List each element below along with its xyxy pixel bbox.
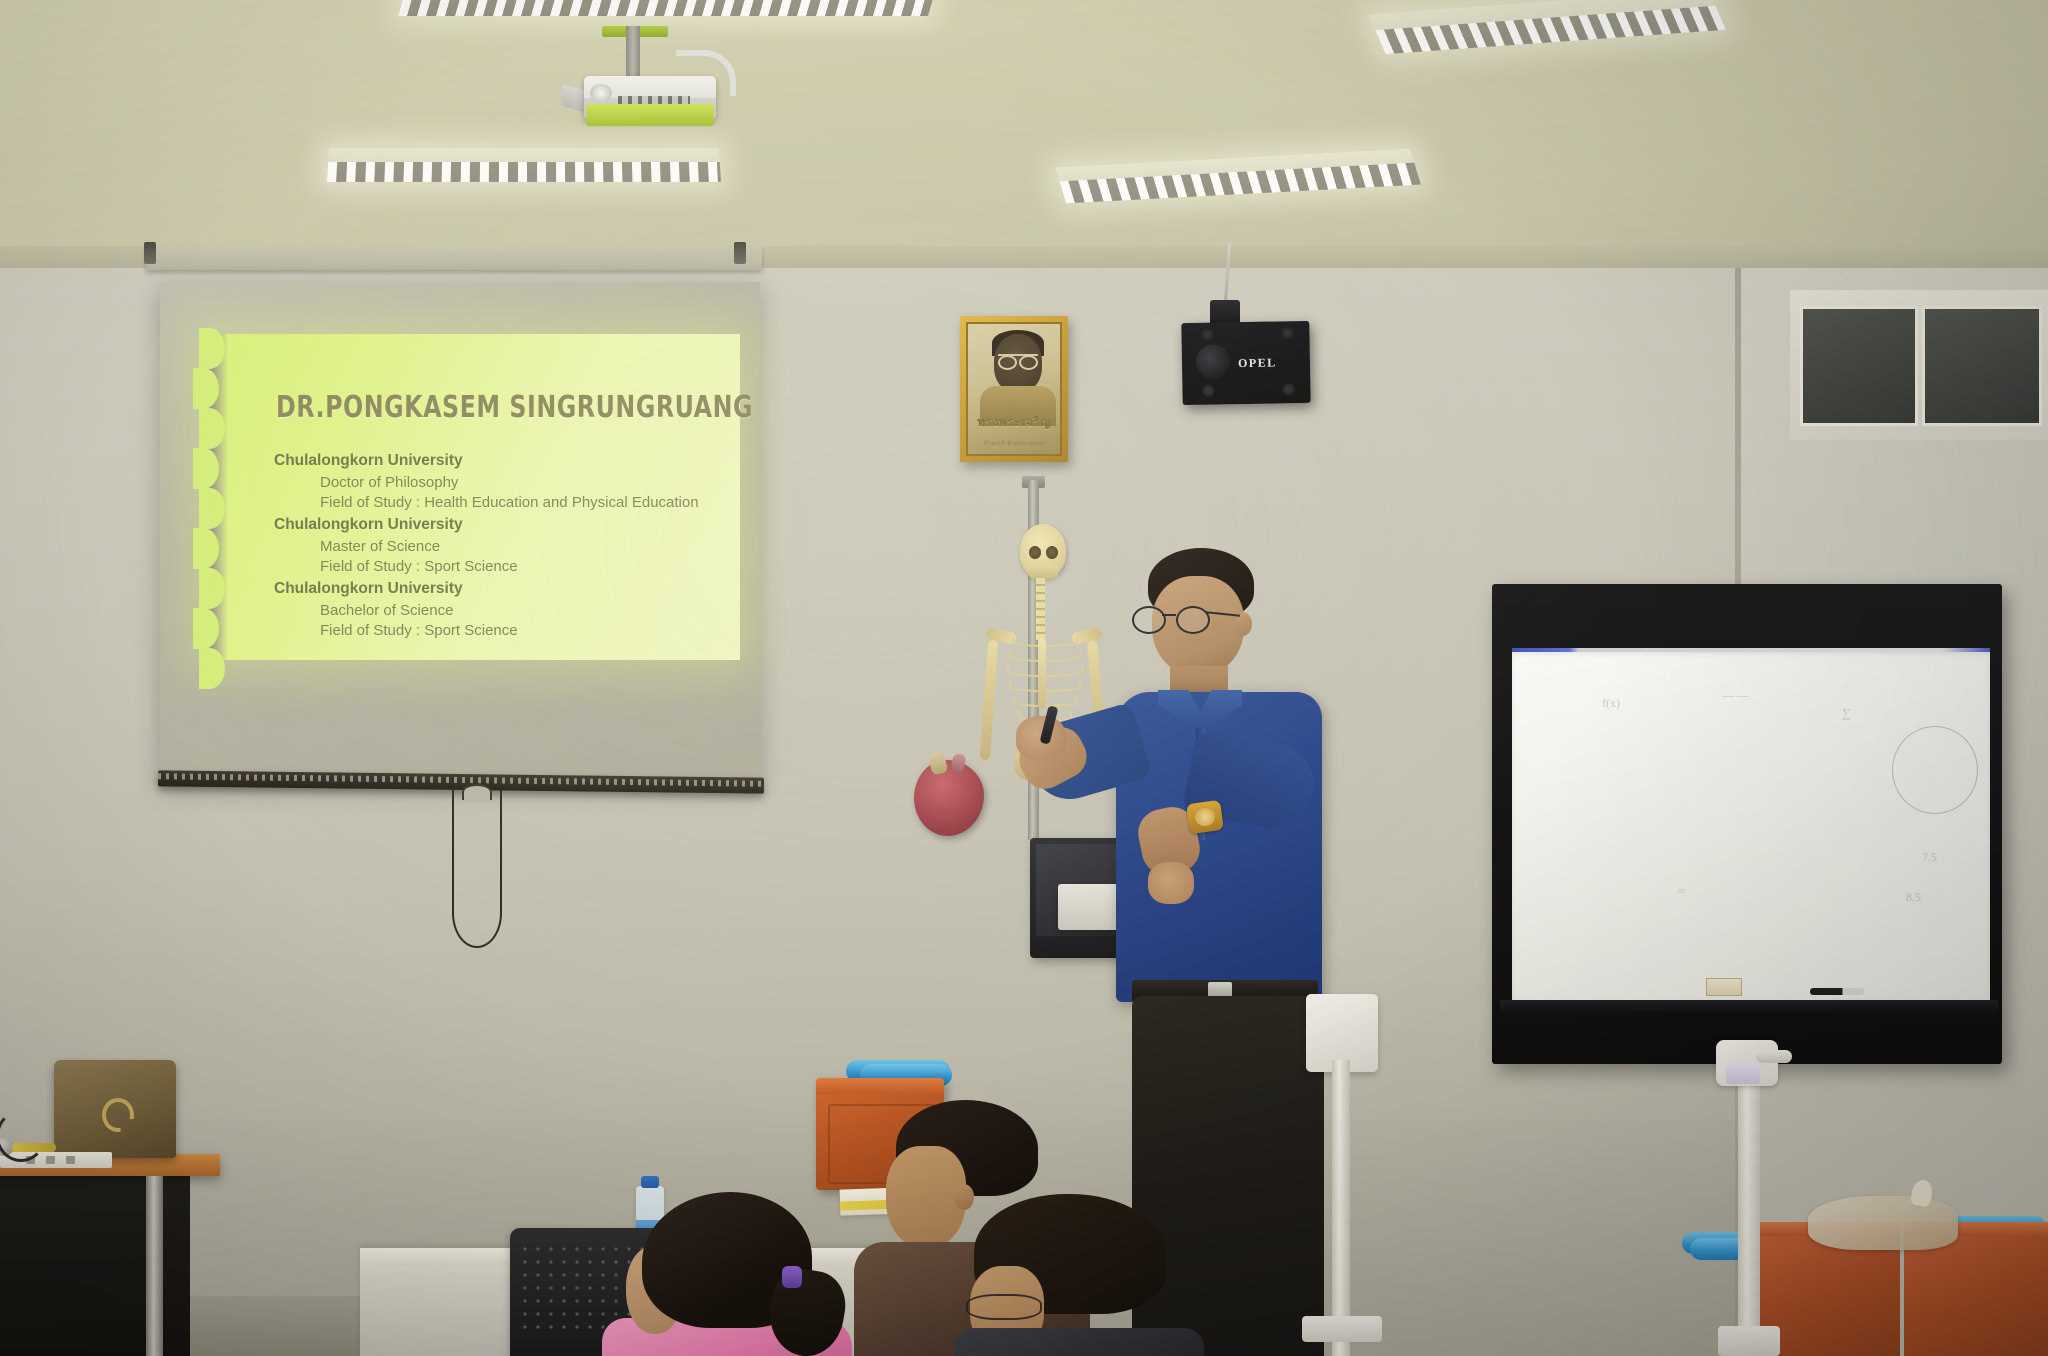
- window-pane: [1800, 306, 1918, 426]
- skeleton-arm: [980, 640, 998, 760]
- window-assembly: [1790, 290, 2048, 440]
- slide-title: DR.PONGKASEM SINGRUNGRUANG: [276, 390, 753, 425]
- slide-wave-lobe: [193, 448, 219, 489]
- wall-speaker: OPEL: [1181, 321, 1310, 405]
- slide-university-2: Chulalongkorn University: [274, 516, 463, 534]
- ceiling-projector: [566, 26, 728, 138]
- slide-wave-lobe: [199, 408, 225, 449]
- glasses-temple: [1206, 611, 1240, 617]
- slide-field-3: Field of Study : Sport Science: [320, 622, 518, 639]
- wristwatch: [1186, 800, 1224, 834]
- projector-lit-underside: [586, 104, 714, 126]
- portrait-image: ทรงพระเจริญ ด้วยเกล้าด้วยกระหม่อม: [966, 322, 1062, 456]
- heart-vessel: [950, 753, 966, 773]
- height-weight-scale: [1720, 1040, 1776, 1356]
- slide-university-1: Chulalongkorn University: [274, 452, 463, 470]
- slide-wave-lobe: [193, 368, 219, 409]
- slide-wave-decoration: [202, 334, 228, 660]
- slide-university-3: Chulalongkorn University: [274, 580, 463, 598]
- slide-wave-lobe: [199, 328, 225, 369]
- slide-wave-lobe: [193, 528, 219, 569]
- projector-lens: [590, 84, 612, 102]
- scale-display: [1726, 1062, 1760, 1084]
- screen-pull-cord[interactable]: [452, 790, 502, 948]
- light-louver: [327, 162, 721, 182]
- projector-mount-pole: [626, 26, 640, 80]
- glasses-lens: [1176, 606, 1210, 634]
- light-louver: [398, 0, 933, 16]
- desk-leg: [146, 1176, 163, 1356]
- window-pane: [1922, 306, 2042, 426]
- speaker-bolt: [1282, 383, 1294, 395]
- speaker-driver: [1196, 344, 1231, 379]
- audience-glasses-icon: [966, 1294, 1042, 1320]
- screen-hook: [144, 242, 156, 264]
- whiteboard-pen-tray: [1500, 1000, 1998, 1014]
- slide-wave-lobe: [199, 488, 225, 529]
- bottle-cap: [641, 1176, 659, 1188]
- portrait-glasses-icon: [998, 354, 1038, 367]
- cart-base: [1302, 1316, 1382, 1342]
- slide-field-1: Field of Study : Health Education and Ph…: [320, 494, 699, 511]
- slide-wave-lobe: [193, 608, 219, 649]
- presenter-right-hand: [1148, 862, 1194, 904]
- whiteboard-surface[interactable]: f(x) — — ∑ 7.5 8.5 ≈: [1512, 652, 1990, 1000]
- ceiling-light-fixture: [327, 148, 721, 182]
- whiteboard-marker[interactable]: [1810, 988, 1864, 995]
- cart-pole: [1332, 1060, 1350, 1356]
- glasses-lens: [1132, 606, 1166, 634]
- scale-base: [1718, 1326, 1780, 1356]
- scale-column: [1738, 1076, 1760, 1356]
- screen-hook: [734, 242, 746, 264]
- scale-height-rod: [1756, 1050, 1792, 1063]
- equipment-cart: [1300, 1060, 1384, 1356]
- classroom-photo-scene: DR.PONGKASEM SINGRUNGRUANG Chulalongkorn…: [0, 0, 2048, 1356]
- slide-wave-lobe: [199, 648, 225, 689]
- audience-member: [614, 1192, 886, 1356]
- plastic-bag: [1808, 1196, 1958, 1250]
- portrait-subcaption: ด้วยเกล้าด้วยกระหม่อม: [968, 438, 1060, 448]
- projected-slide: DR.PONGKASEM SINGRUNGRUANG Chulalongkorn…: [202, 334, 740, 660]
- whiteboard-label-sticker: [1706, 978, 1742, 996]
- presenter-glasses-icon: [1132, 606, 1236, 630]
- ceiling-light-fixture: [398, 0, 936, 16]
- speaker-bolt: [1202, 385, 1214, 397]
- audience-shoulders: [954, 1328, 1204, 1356]
- projection-screen: DR.PONGKASEM SINGRUNGRUANG Chulalongkorn…: [160, 282, 760, 782]
- hair-tie: [782, 1266, 802, 1288]
- slide-wave-lobe: [199, 568, 225, 609]
- box-lid: [816, 1078, 944, 1094]
- screen-housing: [146, 246, 762, 270]
- speaker-bolt: [1281, 327, 1293, 339]
- whiteboard-drawing-circle: [1892, 726, 1978, 814]
- speaker-brand-label: OPEL: [1238, 355, 1277, 371]
- audience-member: [964, 1194, 1196, 1356]
- slide-degree-2: Master of Science: [320, 538, 440, 555]
- glasses-bridge: [1162, 614, 1176, 616]
- projector-port-panel: [618, 96, 690, 104]
- framed-portrait: ทรงพระเจริญ ด้วยเกล้าด้วยกระหม่อม: [960, 316, 1068, 462]
- slide-field-2: Field of Study : Sport Science: [320, 558, 518, 575]
- speaker-bolt: [1201, 329, 1213, 341]
- slide-degree-1: Doctor of Philosophy: [320, 474, 458, 491]
- slide-degree-3: Bachelor of Science: [320, 602, 453, 619]
- portrait-caption: ทรงพระเจริญ: [968, 413, 1060, 432]
